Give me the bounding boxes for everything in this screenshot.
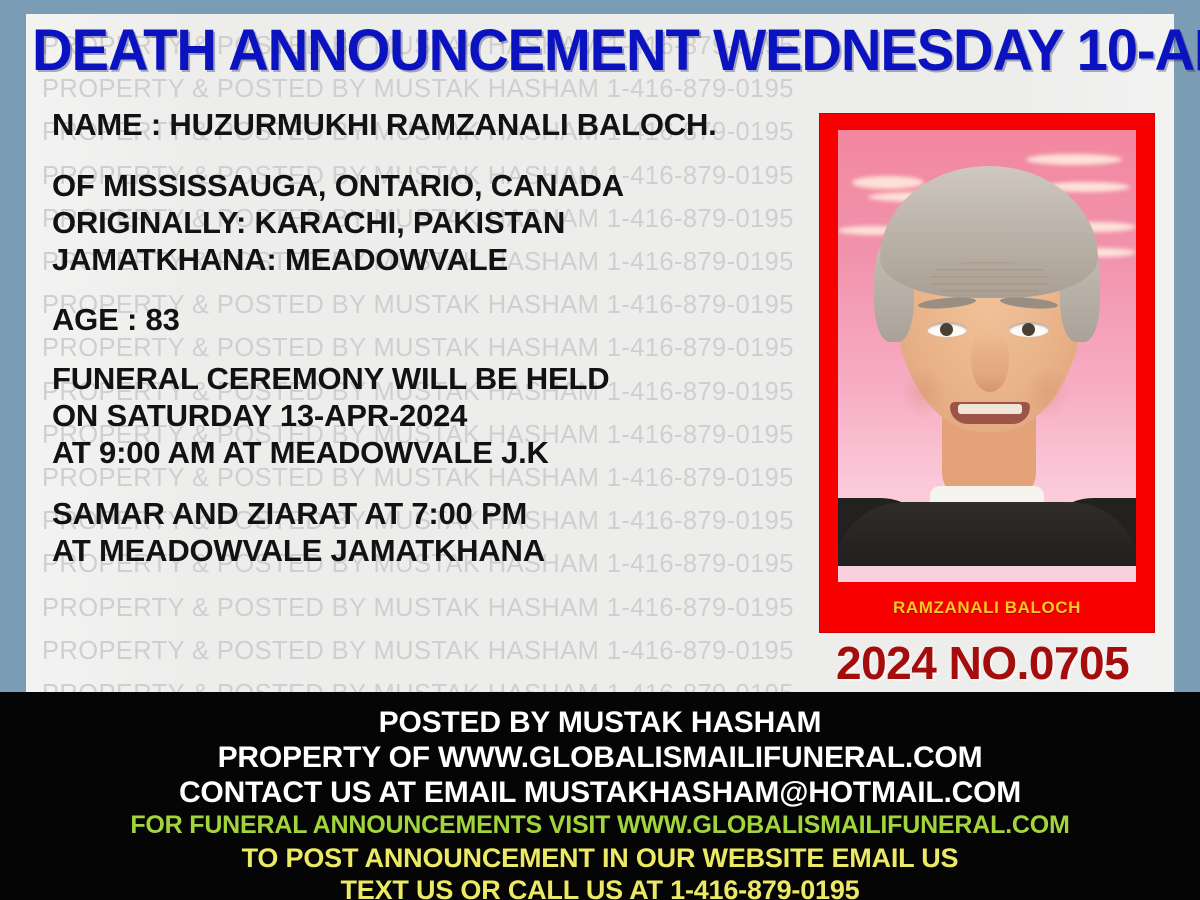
eye-left [927, 322, 967, 337]
iris-right [1022, 323, 1035, 336]
detail-origin: ORIGINALLY: KARACHI, PAKISTAN [52, 204, 812, 241]
samar-ziarat-block: SAMAR AND ZIARAT AT 7:00 PM AT MEADOWVAL… [52, 495, 812, 569]
deceased-photo-frame: RAMZANALI BALOCH [820, 114, 1154, 632]
footer-banner: POSTED BY MUSTAK HASHAM PROPERTY OF WWW.… [0, 692, 1200, 900]
detail-name: NAME : HUZURMUKHI RAMZANALI BALOCH. [52, 106, 812, 143]
footer-post-announcement: TO POST ANNOUNCEMENT IN OUR WEBSITE EMAI… [0, 845, 1200, 872]
mouth-shape [950, 402, 1030, 424]
deceased-portrait [838, 130, 1136, 582]
cloud-shape [1026, 154, 1122, 165]
funeral-line-3: AT 9:00 AM AT MEADOWVALE J.K [52, 434, 812, 471]
eye-right [1009, 322, 1049, 337]
page-title: DEATH ANNOUNCEMENT WEDNESDAY 10-APR-2024 [32, 17, 1099, 84]
detail-residence: OF MISSISSAUGA, ONTARIO, CANADA [52, 167, 812, 204]
footer-posted-by: POSTED BY MUSTAK HASHAM [0, 708, 1200, 738]
iris-left [940, 323, 953, 336]
photo-caption: RAMZANALI BALOCH [820, 598, 1154, 618]
cloud-shape [852, 176, 924, 189]
cheek-right [1024, 366, 1070, 418]
photo-bottom-strip [838, 566, 1136, 582]
funeral-line-1: FUNERAL CEREMONY WILL BE HELD [52, 360, 812, 397]
cheek-left [900, 366, 946, 418]
teeth-shape [958, 404, 1022, 414]
samar-line-1: SAMAR AND ZIARAT AT 7:00 PM [52, 495, 812, 532]
watermark-line: PROPERTY & POSTED BY MUSTAK HASHAM 1-416… [42, 594, 794, 623]
watermark-line: PROPERTY & POSTED BY MUSTAK HASHAM 1-416… [42, 680, 794, 692]
detail-age: AGE : 83 [52, 301, 812, 338]
funeral-line-2: ON SATURDAY 13-APR-2024 [52, 397, 812, 434]
reference-number: 2024 NO.0705 [836, 636, 1129, 690]
footer-contact-email: CONTACT US AT EMAIL MUSTAKHASHAM@HOTMAIL… [0, 778, 1200, 808]
watermark-line: PROPERTY & POSTED BY MUSTAK HASHAM 1-416… [42, 637, 794, 666]
samar-line-2: AT MEADOWVALE JAMATKHANA [52, 532, 812, 569]
forehead-wrinkles [930, 262, 1048, 296]
age-block: AGE : 83 [52, 301, 812, 338]
footer-website-visit: FOR FUNERAL ANNOUNCEMENTS VISIT WWW.GLOB… [0, 813, 1200, 838]
footer-property-of: PROPERTY OF WWW.GLOBALISMAILIFUNERAL.COM [0, 743, 1200, 773]
funeral-block: FUNERAL CEREMONY WILL BE HELD ON SATURDA… [52, 360, 812, 471]
death-announcement-poster: PROPERTY & POSTED BY MUSTAK HASHAM 1-416… [0, 0, 1200, 900]
nose-shape [971, 332, 1009, 392]
footer-phone: TEXT US OR CALL US AT 1-416-879-0195 [0, 877, 1200, 900]
location-block: OF MISSISSAUGA, ONTARIO, CANADA ORIGINAL… [52, 167, 812, 278]
name-block: NAME : HUZURMUKHI RAMZANALI BALOCH. [52, 106, 812, 143]
detail-jamatkhana: JAMATKHANA: MEADOWVALE [52, 241, 812, 278]
announcement-details: NAME : HUZURMUKHI RAMZANALI BALOCH. OF M… [52, 106, 812, 569]
